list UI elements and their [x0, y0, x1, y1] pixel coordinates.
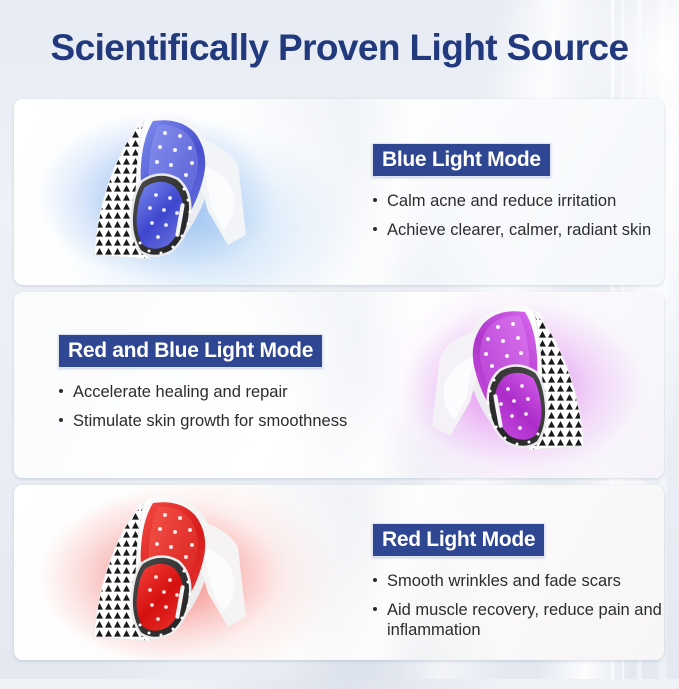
list-item: Smooth wrinkles and fade scars [372, 571, 664, 591]
list-item: Achieve clearer, calmer, radiant skin [372, 220, 662, 240]
list-item: Accelerate healing and repair [58, 382, 358, 402]
badge-blue-light-mode: Blue Light Mode [372, 143, 551, 177]
card-red-and-blue-light-mode: Red and Blue Light Mode Accelerate heali… [14, 292, 664, 478]
list-item: Calm acne and reduce irritation [372, 191, 662, 211]
badge-red-light-mode: Red Light Mode [372, 523, 545, 557]
mask-illustration [32, 485, 292, 660]
bullet-dot-icon [373, 227, 377, 231]
led-face-mask-blue-image [32, 103, 292, 283]
mask-illustration [386, 294, 646, 474]
bullet-text: Smooth wrinkles and fade scars [387, 572, 621, 590]
bullet-text: Achieve clearer, calmer, radiant skin [387, 221, 651, 239]
bullet-text: Stimulate skin growth for smoothness [73, 412, 347, 430]
bullet-text: Accelerate healing and repair [73, 383, 288, 401]
led-face-mask-purple-image [386, 294, 646, 474]
bullet-dot-icon [373, 578, 377, 582]
badge-red-and-blue-light-mode: Red and Blue Light Mode [58, 334, 323, 368]
led-face-mask-red-image [32, 485, 292, 660]
page-title: Scientifically Proven Light Source [0, 26, 679, 70]
bullet-list-blue: Calm acne and reduce irritation Achieve … [372, 191, 662, 240]
bullet-text: Aid muscle recovery, reduce pain and inf… [387, 601, 662, 639]
list-item: Aid muscle recovery, reduce pain and inf… [372, 600, 664, 640]
bullet-dot-icon [373, 198, 377, 202]
text-block-red: Red Light Mode Smooth wrinkles and fade … [372, 523, 664, 649]
bullet-dot-icon [373, 607, 377, 611]
mask-illustration [32, 103, 292, 283]
text-block-red-and-blue: Red and Blue Light Mode Accelerate heali… [58, 334, 358, 440]
bullet-list-red: Smooth wrinkles and fade scars Aid muscl… [372, 571, 664, 640]
card-blue-light-mode: Blue Light Mode Calm acne and reduce irr… [14, 99, 664, 285]
text-block-blue: Blue Light Mode Calm acne and reduce irr… [372, 143, 662, 249]
bullet-list-red-and-blue: Accelerate healing and repair Stimulate … [58, 382, 358, 431]
card-red-light-mode: Red Light Mode Smooth wrinkles and fade … [14, 485, 664, 660]
bullet-dot-icon [59, 389, 63, 393]
bullet-text: Calm acne and reduce irritation [387, 192, 616, 210]
bullet-dot-icon [59, 418, 63, 422]
list-item: Stimulate skin growth for smoothness [58, 411, 358, 431]
